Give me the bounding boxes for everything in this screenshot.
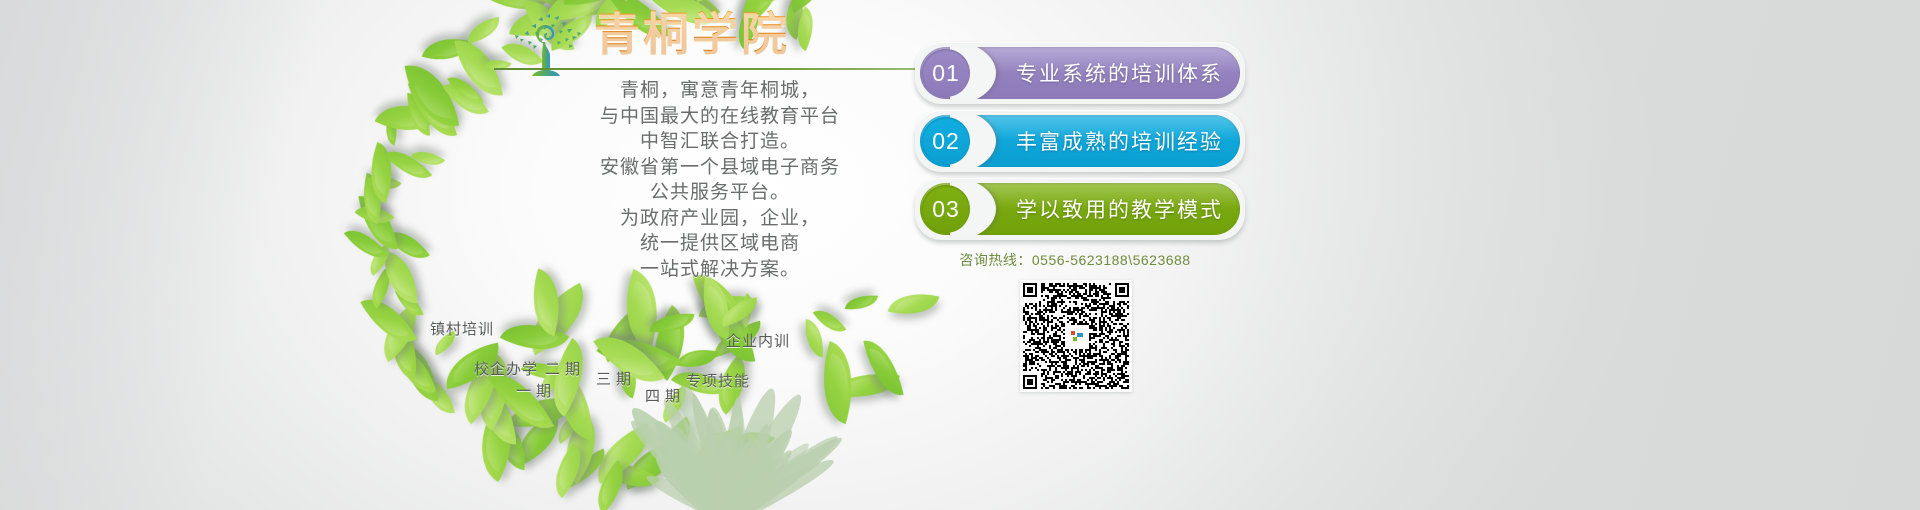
feature-pill[interactable]: 02丰富成熟的培训经验 <box>915 110 1245 172</box>
stage-label: 校企办学 <box>474 358 538 379</box>
hotline-text: 咨询热线：0556-5623188\5623688 <box>915 250 1235 270</box>
about-line: 青桐，寓意青年桐城， <box>470 78 970 104</box>
feature-label: 丰富成熟的培训经验 <box>1016 115 1223 167</box>
leaf-icon <box>802 319 825 357</box>
qr-code[interactable] <box>1020 280 1132 392</box>
feature-number: 01 <box>922 49 970 97</box>
leaf-icon <box>464 17 502 44</box>
feature-pill-body: 01专业系统的培训体系 <box>920 47 1240 99</box>
stage-label: 企业内训 <box>726 330 790 351</box>
about-line: 一站式解决方案。 <box>470 257 970 283</box>
stage-label: 镇村培训 <box>430 318 494 339</box>
qr-code-image <box>1023 283 1129 389</box>
leaf-icon <box>384 251 418 303</box>
about-line: 公共服务平台。 <box>470 180 970 206</box>
brand-logo: 青桐学院 <box>594 6 894 62</box>
features-panel: 01专业系统的培训体系02丰富成熟的培训经验03学以致用的教学模式 咨询热线：0… <box>905 0 1920 510</box>
feature-label: 专业系统的培训体系 <box>1016 47 1223 99</box>
feature-number: 03 <box>922 185 970 233</box>
about-line: 安徽省第一个县域电子商务 <box>470 155 970 181</box>
logo-divider <box>494 68 934 70</box>
promo-banner: 青桐学院 青桐，寓意青年桐城，与中国最大的在线教育平台中智汇联合打造。安徽省第一… <box>0 0 1920 510</box>
feature-pill-body: 02丰富成熟的培训经验 <box>920 115 1240 167</box>
stage-label: 一期 <box>516 380 556 401</box>
stage-label: 四期 <box>645 385 685 406</box>
stage-label: 二期 <box>545 358 585 379</box>
brand-title: 青桐学院 <box>594 6 894 62</box>
about-paragraph: 青桐，寓意青年桐城，与中国最大的在线教育平台中智汇联合打造。安徽省第一个县域电子… <box>470 78 970 282</box>
feature-pill-body: 03学以致用的教学模式 <box>920 183 1240 235</box>
feature-pill[interactable]: 03学以致用的教学模式 <box>915 178 1245 240</box>
about-line: 统一提供区域电商 <box>470 231 970 257</box>
about-line: 与中国最大的在线教育平台 <box>470 104 970 130</box>
stage-label: 专项技能 <box>686 370 750 391</box>
about-line: 中智汇联合打造。 <box>470 129 970 155</box>
leaf-icon <box>844 292 878 311</box>
feature-label: 学以致用的教学模式 <box>1016 183 1223 235</box>
about-line: 为政府产业园，企业， <box>470 206 970 232</box>
feature-pill[interactable]: 01专业系统的培训体系 <box>915 42 1245 104</box>
stage-label: 三期 <box>596 368 636 389</box>
feature-number: 02 <box>922 117 970 165</box>
